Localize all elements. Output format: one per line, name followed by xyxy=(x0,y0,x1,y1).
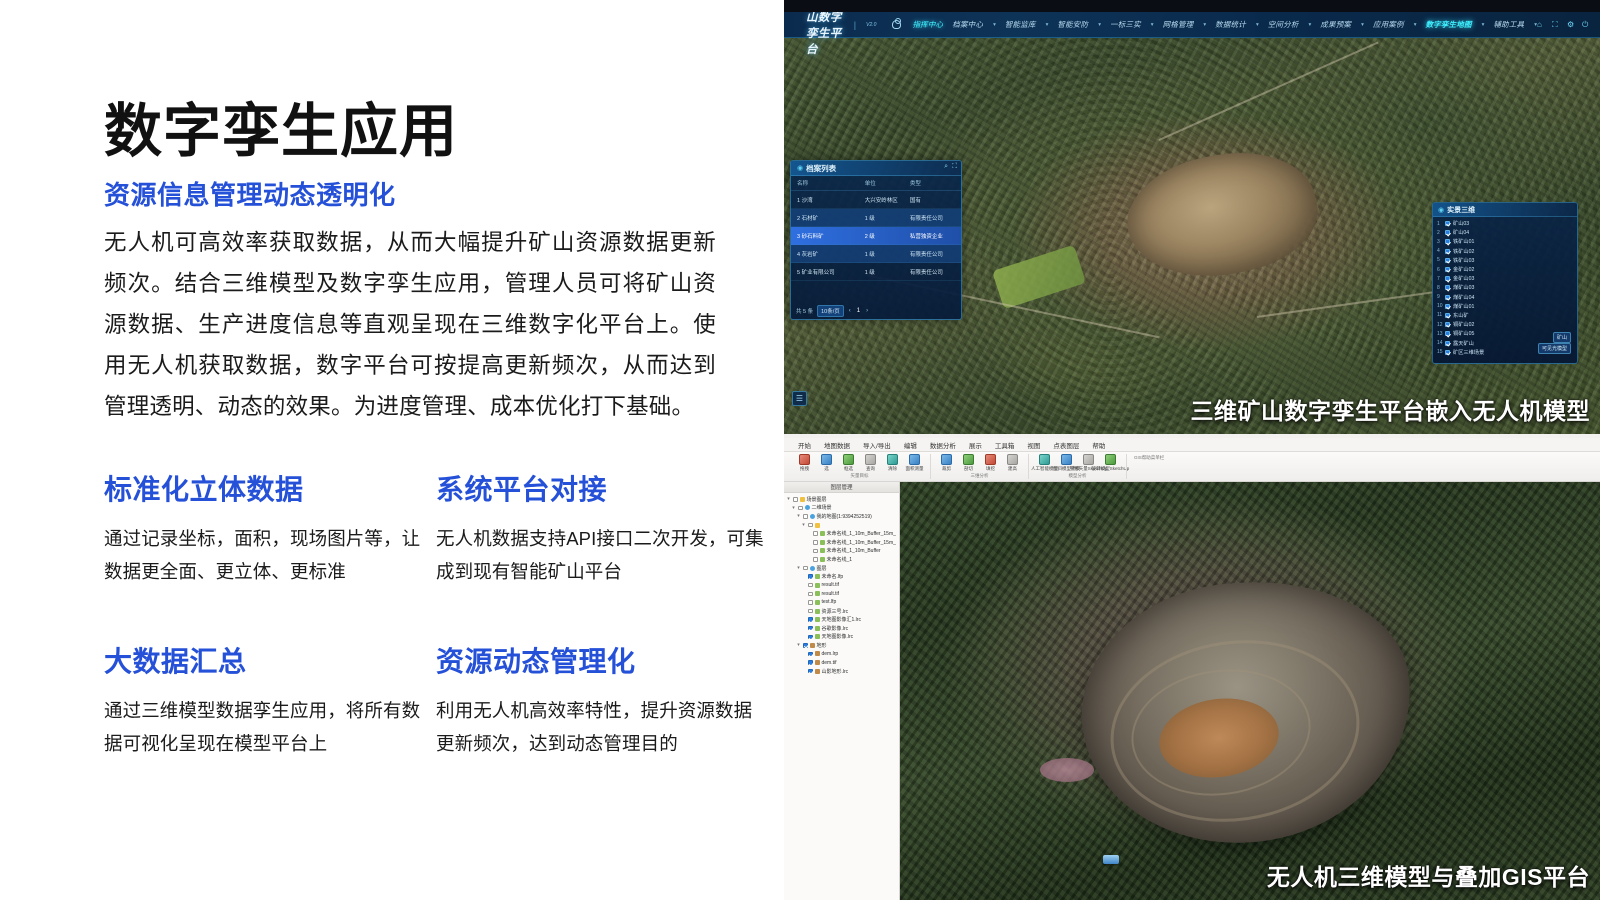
nav-item-3[interactable]: 智能安防 xyxy=(1057,19,1088,30)
list-item-index: 14 xyxy=(1437,340,1442,346)
terr-icon xyxy=(815,660,820,665)
tree-checkbox[interactable] xyxy=(808,617,813,622)
list-item-index: 4 xyxy=(1437,248,1442,254)
box-select-icon xyxy=(843,454,854,465)
list-item-label: 煤矿山03 xyxy=(1453,284,1474,291)
feature-card-1: 标准化立体数据 通过记录坐标，面积，现场图片等，让数据更全面、更立体、更标准 xyxy=(104,468,434,588)
feature-title: 标准化立体数据 xyxy=(104,468,434,508)
rotate-icon xyxy=(1105,454,1116,465)
ribbon-button-2-0[interactable]: 人工智能模型 xyxy=(1036,454,1053,472)
list-item-label: 东山矿 xyxy=(1453,312,1469,319)
archive-panel-tools: ⌕ ⛶ xyxy=(944,163,957,171)
ribbon-button-1-0[interactable]: 裁剪 xyxy=(938,454,955,472)
ribbon-button-0-2[interactable]: 框选 xyxy=(840,454,857,472)
archive-table-body: 1 沙湾大兴安岭林区国有2 石材矿1 级有限责任公司3 砂石料矿2 级私营独资企… xyxy=(791,191,961,281)
tree-item-label: dem.lrp xyxy=(822,651,839,657)
layer-tree-header: 图层管理 xyxy=(784,482,899,493)
clear-icon xyxy=(887,454,898,465)
tree-item-label: 未命名线_1_10m_Buffer xyxy=(827,547,881,554)
list-item-index: 6 xyxy=(1437,267,1442,273)
ribbon-button-1-3[interactable]: 建高 xyxy=(1004,454,1021,472)
digital-twin-platform-screenshot: 三维矿山数字孪生平台 | V2.0 指挥中心档案中心▾智能监库▾智能安防▾一标三… xyxy=(784,12,1600,434)
layer-icon xyxy=(815,600,820,605)
page-title: 数字孪生应用 xyxy=(104,100,458,164)
menu-item-1[interactable]: 地图数据 xyxy=(824,440,850,450)
list-item[interactable]: 7金矿山03 xyxy=(1437,274,1573,283)
cell-type: 有限责任公司 xyxy=(910,214,955,222)
cell-name: 3 砂石料矿 xyxy=(797,232,865,240)
tree-checkbox[interactable] xyxy=(808,574,813,579)
cell-type: 有限责任公司 xyxy=(910,250,955,258)
vehicle-marker xyxy=(1103,855,1119,864)
ribbon-button-0-3[interactable]: 查询 xyxy=(862,454,879,472)
tree-item-label: 天地图影像汇1.lrc xyxy=(822,616,861,623)
list-item-label: 金矿山03 xyxy=(1453,275,1474,282)
ribbon-group-3: GIS帮助菜单栏 xyxy=(1130,452,1168,461)
tree-item[interactable]: 未命名.lfp xyxy=(786,572,899,581)
section-icon xyxy=(963,454,974,465)
tree-item-label: 我的地图(1:9394252519) xyxy=(817,513,872,520)
ribbon-group-label: 模型分析 xyxy=(1069,473,1087,479)
gis-desktop-screenshot: 开始地图数据导入/导出编辑数据分析展示工具箱视图点表图层帮助 拖拽选框选查询清除… xyxy=(784,434,1600,900)
nav-item-1[interactable]: 档案中心 xyxy=(952,19,983,30)
cell-name: 5 矿业有限公司 xyxy=(797,268,865,276)
tree-item-label: 未命名线_1 xyxy=(827,556,853,563)
menu-item-0[interactable]: 开始 xyxy=(798,440,811,450)
hamburger-icon[interactable]: ☰ xyxy=(792,391,807,406)
tree-item-label: dem.tif xyxy=(822,660,837,666)
tree-checkbox[interactable] xyxy=(808,523,813,528)
cell-unit: 1 级 xyxy=(865,214,910,222)
layer-icon xyxy=(815,574,820,579)
ribbon-button-label: 面积测量 xyxy=(906,466,924,472)
list-item-label: 铁矿山01 xyxy=(1453,238,1474,245)
nav-item-4[interactable]: 一标三实 xyxy=(1110,19,1141,30)
ribbon-group-label: GIS帮助菜单栏 xyxy=(1134,455,1164,461)
tilt-model-icon xyxy=(1061,454,1072,465)
brand-title: 三维矿山数字孪生平台 xyxy=(806,12,847,57)
chevron-down-icon[interactable]: ▾ xyxy=(1202,22,1206,28)
power-icon[interactable]: ⏻ xyxy=(1582,21,1590,29)
layer-checkbox[interactable] xyxy=(1445,322,1450,327)
chevron-down-icon[interactable]: ▾ xyxy=(1255,22,1259,28)
ribbon-button-0-1[interactable]: 选 xyxy=(818,454,835,472)
menu-item-8[interactable]: 点表图层 xyxy=(1053,440,1079,450)
list-item-label: 铁矿山03 xyxy=(1453,257,1474,264)
tree-checkbox[interactable] xyxy=(803,566,808,571)
archive-panel-header: ◉ 档案列表 ⌕ ⛶ xyxy=(791,161,961,176)
chevron-down-icon[interactable]: ▾ xyxy=(992,22,996,28)
list-item[interactable]: 2矿山04 xyxy=(1437,228,1573,237)
globe-icon xyxy=(805,505,810,510)
ribbon-button-0-4[interactable]: 清除 xyxy=(884,454,901,472)
brand-version: V2.0 xyxy=(863,22,876,28)
list-item-index: 13 xyxy=(1437,331,1442,337)
layer-icon xyxy=(815,591,820,596)
chevron-down-icon[interactable]: ▾ xyxy=(1360,22,1364,28)
list-item[interactable]: 11东山矿 xyxy=(1437,311,1573,320)
ribbon-separator xyxy=(1028,454,1029,479)
menu-item-6[interactable]: 工具箱 xyxy=(995,440,1015,450)
tree-checkbox[interactable] xyxy=(808,600,813,605)
tree-item[interactable]: ▾场景图层 xyxy=(786,495,899,504)
list-item-index: 8 xyxy=(1437,285,1442,291)
list-item-label: 煤矿山01 xyxy=(1453,303,1474,310)
ribbon-group-label: 矢量目标 xyxy=(851,473,869,479)
chevron-down-icon[interactable]: ▾ xyxy=(1413,22,1417,28)
tree-item[interactable]: 资源三号.lrc xyxy=(786,607,899,616)
gis-layer-tree-panel: 图层管理 ▾场景图层▾二维场景▾我的地图(1:9394252519)▾未命名线_… xyxy=(784,482,900,900)
list-item-label: 煤矿山04 xyxy=(1453,294,1474,301)
tree-item[interactable]: ▾ xyxy=(786,521,899,530)
tree-checkbox[interactable] xyxy=(808,652,813,657)
brand-separator: | xyxy=(852,20,858,30)
ribbon-group-label: 三维分析 xyxy=(971,473,989,479)
menu-item-4[interactable]: 数据分析 xyxy=(930,440,956,450)
expand-icon[interactable]: ⛶ xyxy=(952,163,957,171)
tree-expand-arrow[interactable]: ▾ xyxy=(796,565,801,571)
list-item[interactable]: 1矿山03 xyxy=(1437,219,1573,228)
tree-checkbox[interactable] xyxy=(793,497,798,502)
tree-item[interactable]: 未命名线_1_10m_Buffer_15m_ xyxy=(786,529,899,538)
ribbon-button-1-1[interactable]: 剖切 xyxy=(960,454,977,472)
tree-item-label: test.lfp xyxy=(822,599,837,605)
list-item[interactable]: 8煤矿山03 xyxy=(1437,283,1573,292)
layer-icon xyxy=(815,583,820,588)
tree-checkbox[interactable] xyxy=(808,609,813,614)
column-unit: 单位 xyxy=(865,179,910,187)
tree-item[interactable]: 未命名线_1_10m_Buffer xyxy=(786,547,899,556)
tree-checkbox[interactable] xyxy=(808,626,813,631)
screenshot-column: 三维矿山数字孪生平台 | V2.0 指挥中心档案中心▾智能监库▾智能安防▾一标三… xyxy=(784,0,1600,900)
feature-title: 系统平台对接 xyxy=(436,468,764,508)
layer-checkbox[interactable] xyxy=(1445,313,1450,318)
tree-item-label: 谷歌影像.lrc xyxy=(822,625,849,632)
nav-item-9[interactable]: 应用案例 xyxy=(1373,19,1404,30)
page-size-select[interactable]: 10条/页 xyxy=(817,305,844,317)
ribbon-button-label: 框选 xyxy=(844,466,853,472)
menu-item-3[interactable]: 编辑 xyxy=(904,440,917,450)
layer-checkbox[interactable] xyxy=(1445,285,1450,290)
tree-checkbox[interactable] xyxy=(803,643,808,648)
gis-ribbon-toolbar: 拖拽选框选查询清除面积测量矢量目标裁剪剖切填挖建高三维分析人工智能模型倾斜模型建… xyxy=(784,452,1600,482)
table-row[interactable]: 2 石材矿1 级有限责任公司 xyxy=(791,209,961,227)
chevron-down-icon[interactable]: ▾ xyxy=(1150,22,1154,28)
layer-checkbox[interactable] xyxy=(1445,295,1450,300)
layer-checkbox[interactable] xyxy=(1445,258,1450,263)
gis-map-canvas[interactable] xyxy=(900,482,1600,900)
tree-item[interactable]: result.tif xyxy=(786,590,899,599)
layer-checkbox[interactable] xyxy=(1445,276,1450,281)
cell-unit: 2 级 xyxy=(865,232,910,240)
layer-icon xyxy=(820,557,825,562)
nav-item-5[interactable]: 网格管理 xyxy=(1163,19,1194,30)
list-item-label: 铁矿山02 xyxy=(1453,248,1474,255)
tree-item[interactable]: 天地图影像汇1.lrc xyxy=(786,615,899,624)
area-icon xyxy=(909,454,920,465)
tree-item-label: 山影地形.lrc xyxy=(822,668,849,675)
list-item-label: 铜矿山05 xyxy=(1453,330,1474,337)
tree-item[interactable]: ▾地形 xyxy=(786,641,899,650)
ribbon-button-0-5[interactable]: 面积测量 xyxy=(906,454,923,472)
feature-title: 大数据汇总 xyxy=(104,640,434,680)
ai-model-icon xyxy=(1039,454,1050,465)
ribbon-button-label: 清除 xyxy=(888,466,897,472)
tree-item[interactable]: ▾图层 xyxy=(786,564,899,573)
menu-item-5[interactable]: 展示 xyxy=(969,440,982,450)
search-icon[interactable]: ⌕ xyxy=(944,163,948,171)
navbar-menu: 指挥中心档案中心▾智能监库▾智能安防▾一标三实▾网格管理▾数据统计▾空间分析▾成… xyxy=(892,19,1537,30)
pan-icon xyxy=(799,454,810,465)
tree-item-label: 二维场景 xyxy=(812,504,832,511)
feature-desc: 通过记录坐标，面积，现场图片等，让数据更全面、更立体、更标准 xyxy=(104,522,434,588)
layer-tooltip-1: 矿山 xyxy=(1553,332,1571,343)
feature-card-3: 大数据汇总 通过三维模型数据孪生应用，将所有数据可视化呈现在模型平台上 xyxy=(104,640,434,760)
table-row[interactable]: 1 沙湾大兴安岭林区国有 xyxy=(791,191,961,209)
list-item-index: 7 xyxy=(1437,276,1442,282)
ribbon-button-label: 裁剪 xyxy=(942,466,951,472)
archive-list-panel: ◉ 档案列表 ⌕ ⛶ 名称 单位 类型 1 沙湾大兴安岭林区国有2 石材矿1 级… xyxy=(790,160,962,320)
layer-checkbox[interactable] xyxy=(1445,239,1450,244)
layer-icon xyxy=(820,548,825,553)
list-item-label: 矿山04 xyxy=(1453,229,1469,236)
tree-item-label: 未命名线_1_10m_Buffer_15m_ xyxy=(827,530,896,537)
realscene-3d-layer-panel: ◉ 实景三维 1矿山032矿山043铁矿山014铁矿山025铁矿山036金矿山0… xyxy=(1432,202,1578,364)
ribbon-button-label: 填挖 xyxy=(986,466,995,472)
page-subtitle: 资源信息管理动态透明化 xyxy=(104,175,396,212)
feature-desc: 通过三维模型数据孪生应用，将所有数据可视化呈现在模型平台上 xyxy=(104,694,434,760)
ribbon-button-label: 建高 xyxy=(1008,466,1017,472)
layer-checkbox[interactable] xyxy=(1445,221,1450,226)
list-item[interactable]: 3铁矿山01 xyxy=(1437,237,1573,246)
ribbon-button-label: 选 xyxy=(824,466,829,472)
tree-item[interactable]: 山影地形.lrc xyxy=(786,667,899,676)
tree-checkbox[interactable] xyxy=(813,540,818,545)
list-item-index: 2 xyxy=(1437,230,1442,236)
cell-unit: 大兴安岭林区 xyxy=(865,196,910,204)
layer-icon xyxy=(815,634,820,639)
feature-row-1: 标准化立体数据 通过记录坐标，面积，现场图片等，让数据更全面、更立体、更标准 系… xyxy=(104,468,764,588)
height-icon xyxy=(1007,454,1018,465)
tree-item-label: result.tif xyxy=(822,582,840,588)
list-item[interactable]: 5铁矿山03 xyxy=(1437,256,1573,265)
tree-item[interactable]: 未命名线_1 xyxy=(786,555,899,564)
feature-desc: 无人机数据支持API接口二次开发，可集成到现有智能矿山平台 xyxy=(436,522,764,588)
nav-item-0[interactable]: 指挥中心 xyxy=(912,19,943,30)
layer-checkbox[interactable] xyxy=(1445,267,1450,272)
list-item-index: 1 xyxy=(1437,221,1442,227)
ribbon-group-1: 裁剪剖切填挖建高三维分析 xyxy=(934,452,1025,479)
tree-item-label: result.tif xyxy=(822,591,840,597)
archive-table-header: 名称 单位 类型 xyxy=(791,176,961,191)
layer-tooltip-2: 可见光模型 xyxy=(1538,343,1571,354)
menu-item-7[interactable]: 视图 xyxy=(1027,440,1040,450)
tree-item[interactable]: result.tif xyxy=(786,581,899,590)
ribbon-group-0: 拖拽选框选查询清除面积测量矢量目标 xyxy=(792,452,927,479)
layer-checkbox[interactable] xyxy=(1445,230,1450,235)
body-paragraph: 无人机可高效率获取数据，从而大幅提升矿山资源数据更新频次。结合三维模型及数字孪生… xyxy=(104,222,716,427)
pin-icon[interactable]: ◉ xyxy=(797,164,803,172)
feature-grid: 标准化立体数据 通过记录坐标，面积，现场图片等，让数据更全面、更立体、更标准 系… xyxy=(104,468,764,812)
tree-item[interactable]: 谷歌影像.lrc xyxy=(786,624,899,633)
tree-item[interactable]: ▾二维场景 xyxy=(786,504,899,513)
nav-item-11[interactable]: 辅助工具 xyxy=(1493,19,1524,30)
list-item-index: 10 xyxy=(1437,303,1442,309)
layer-icon xyxy=(815,617,820,622)
query-icon xyxy=(865,454,876,465)
ribbon-button-2-3[interactable]: 旋转模型SketchUp xyxy=(1102,454,1119,472)
tree-checkbox[interactable] xyxy=(808,583,813,588)
layer-icon xyxy=(820,531,825,536)
page-number[interactable]: 1 xyxy=(856,308,861,314)
slide-page: 数字孪生应用 资源信息管理动态透明化 无人机可高效率获取数据，从而大幅提升矿山资… xyxy=(0,0,1600,900)
ribbon-button-1-2[interactable]: 填挖 xyxy=(982,454,999,472)
gis-menubar: 开始地图数据导入/导出编辑数据分析展示工具箱视图点表图层帮助 xyxy=(784,438,1600,452)
select-icon xyxy=(821,454,832,465)
gear-icon[interactable]: ⚙ xyxy=(1567,21,1575,29)
list-item-index: 3 xyxy=(1437,239,1442,245)
tree-item-label: 场景图层 xyxy=(807,496,827,503)
nav-item-7[interactable]: 空间分析 xyxy=(1268,19,1299,30)
tree-expand-arrow[interactable]: ▾ xyxy=(801,522,806,528)
tree-checkbox[interactable] xyxy=(813,531,818,536)
tree-expand-arrow[interactable]: ▾ xyxy=(786,496,791,502)
cell-type: 私营独资企业 xyxy=(910,232,955,240)
prev-page-button[interactable]: ‹ xyxy=(848,308,852,314)
list-item-index: 15 xyxy=(1437,349,1442,355)
tree-item[interactable]: dem.tif xyxy=(786,658,899,667)
layer-checkbox[interactable] xyxy=(1445,341,1450,346)
feature-card-4: 资源动态管理化 利用无人机高效率特性，提升资源数据更新频次，达到动态管理目的 xyxy=(434,640,764,760)
feature-row-2: 大数据汇总 通过三维模型数据孪生应用，将所有数据可视化呈现在模型平台上 资源动态… xyxy=(104,640,764,760)
feature-card-2: 系统平台对接 无人机数据支持API接口二次开发，可集成到现有智能矿山平台 xyxy=(434,468,764,588)
ribbon-button-0-0[interactable]: 拖拽 xyxy=(796,454,813,472)
cell-type: 国有 xyxy=(910,196,955,204)
layer-tree-list: ▾场景图层▾二维场景▾我的地图(1:9394252519)▾未命名线_1_10m… xyxy=(784,493,899,675)
platform-navbar: 三维矿山数字孪生平台 | V2.0 指挥中心档案中心▾智能监库▾智能安防▾一标三… xyxy=(784,12,1600,38)
tree-checkbox[interactable] xyxy=(803,514,808,519)
tree-item-label: 资源三号.lrc xyxy=(822,608,849,615)
globe-icon xyxy=(810,514,815,519)
tree-checkbox[interactable] xyxy=(813,557,818,562)
chevron-down-icon[interactable]: ▾ xyxy=(1045,22,1049,28)
tree-item[interactable]: 天地图影像.lrc xyxy=(786,633,899,642)
layer-icon xyxy=(815,626,820,631)
list-item-index: 12 xyxy=(1437,322,1442,328)
terr-icon xyxy=(810,643,815,648)
folder-icon xyxy=(800,497,805,502)
bottom-screenshot-caption: 无人机三维模型与叠加GIS平台 xyxy=(1267,858,1590,892)
cell-name: 2 石材矿 xyxy=(797,214,865,222)
tree-checkbox[interactable] xyxy=(808,660,813,665)
list-item-label: 露天矿山 xyxy=(1453,340,1474,347)
tree-checkbox[interactable] xyxy=(813,549,818,554)
next-page-button[interactable]: › xyxy=(865,308,869,314)
tree-expand-arrow[interactable]: ▾ xyxy=(791,505,796,511)
cell-name: 4 灰岩矿 xyxy=(797,250,865,258)
layer-checkbox[interactable] xyxy=(1445,249,1450,254)
tree-item[interactable]: dem.lrp xyxy=(786,650,899,659)
tailings-pond xyxy=(1040,758,1094,782)
globe-icon xyxy=(810,566,815,571)
cutfill-icon xyxy=(985,454,996,465)
chevron-down-icon[interactable]: ▾ xyxy=(1481,22,1485,28)
tree-item[interactable]: test.lfp xyxy=(786,598,899,607)
tree-expand-arrow[interactable]: ▾ xyxy=(796,513,801,519)
home-icon[interactable]: ⌂ xyxy=(1537,21,1545,29)
nav-item-2[interactable]: 智能监库 xyxy=(1005,19,1036,30)
list-item-label: 矿山03 xyxy=(1453,220,1469,227)
top-screenshot-caption: 三维矿山数字孪生平台嵌入无人机模型 xyxy=(1191,392,1591,426)
tree-item-label: 未命名线_1_10m_Buffer_15m_ xyxy=(827,539,896,546)
layer-panel-header: ◉ 实景三维 xyxy=(1433,203,1577,217)
globe-icon: ◉ xyxy=(1438,206,1444,214)
nav-item-8[interactable]: 成果预案 xyxy=(1320,19,1351,30)
table-row[interactable]: 4 灰岩矿1 级有限责任公司 xyxy=(791,245,961,263)
tree-item-label: 图层 xyxy=(817,565,827,572)
folder-icon xyxy=(815,523,820,528)
ribbon-button-label: 旋转模型SketchUp xyxy=(1092,466,1130,472)
tree-item-label: 未命名.lfp xyxy=(822,573,844,580)
list-item-label: 铜矿山02 xyxy=(1453,321,1474,328)
column-name: 名称 xyxy=(797,179,865,187)
fullscreen-icon[interactable]: ⛶ xyxy=(1552,21,1560,29)
brand: 三维矿山数字孪生平台 | V2.0 xyxy=(784,12,876,57)
tree-checkbox[interactable] xyxy=(798,506,803,511)
nav-item-10[interactable]: 数字孪生地图 xyxy=(1425,19,1471,30)
ribbon-group-2: 人工智能模型倾斜模型建模平移矢量SketchUp旋转模型SketchUp模型分析 xyxy=(1032,452,1123,479)
nav-item-6[interactable]: 数据统计 xyxy=(1215,19,1246,30)
list-item[interactable]: 6金矿山02 xyxy=(1437,265,1573,274)
ribbon-separator xyxy=(930,454,931,479)
chevron-down-icon[interactable]: ▾ xyxy=(1308,22,1312,28)
list-item[interactable]: 12铜矿山02 xyxy=(1437,320,1573,329)
clip-icon xyxy=(941,454,952,465)
ribbon-button-label: 拖拽 xyxy=(800,466,809,472)
layer-panel-title: 实景三维 xyxy=(1447,205,1475,215)
tree-item[interactable]: ▾我的地图(1:9394252519) xyxy=(786,512,899,521)
menu-item-2[interactable]: 导入/导出 xyxy=(863,440,891,450)
layer-checkbox[interactable] xyxy=(1445,331,1450,336)
cell-name: 1 沙湾 xyxy=(797,196,865,204)
table-row[interactable]: 3 砂石料矿2 级私营独资企业 xyxy=(791,227,961,245)
layer-checkbox[interactable] xyxy=(1445,350,1450,355)
list-item-index: 9 xyxy=(1437,294,1442,300)
layer-icon xyxy=(815,609,820,614)
tree-item-label: 天地图影像.lrc xyxy=(822,633,854,640)
tree-expand-arrow[interactable]: ▾ xyxy=(796,642,801,648)
cell-type: 有限责任公司 xyxy=(910,268,955,276)
menu-item-9[interactable]: 帮助 xyxy=(1092,440,1105,450)
terr-icon xyxy=(815,651,820,656)
tree-checkbox[interactable] xyxy=(808,635,813,640)
list-item[interactable]: 9煤矿山04 xyxy=(1437,293,1573,302)
tree-item[interactable]: 未命名线_1_10m_Buffer_15m_ xyxy=(786,538,899,547)
list-item[interactable]: 4铁矿山02 xyxy=(1437,247,1573,256)
tree-checkbox[interactable] xyxy=(808,592,813,597)
move-icon xyxy=(1083,454,1094,465)
layer-checkbox[interactable] xyxy=(1445,304,1450,309)
chevron-down-icon[interactable]: ▾ xyxy=(1097,22,1101,28)
table-row[interactable]: 5 矿业有限公司1 级有限责任公司 xyxy=(791,263,961,281)
archive-panel-title: 档案列表 xyxy=(806,163,836,174)
tree-item-label: 地形 xyxy=(817,642,827,649)
list-item[interactable]: 10煤矿山01 xyxy=(1437,302,1573,311)
tree-checkbox[interactable] xyxy=(808,669,813,674)
total-count: 共 5 条 xyxy=(796,307,813,315)
user-icon[interactable] xyxy=(892,20,901,29)
cell-unit: 1 级 xyxy=(865,268,910,276)
